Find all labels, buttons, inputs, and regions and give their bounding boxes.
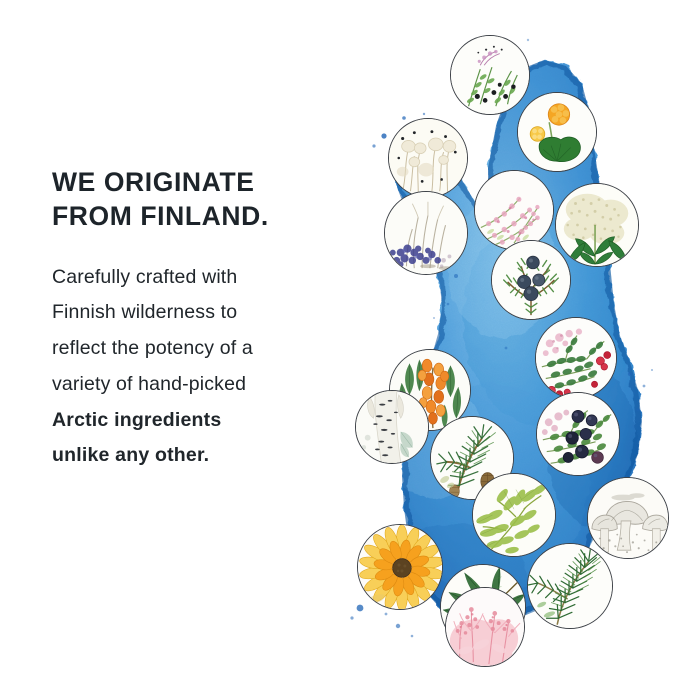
text-block: WE ORIGINATE FROM FINLAND. Carefully cra… bbox=[52, 166, 352, 474]
circle-cloudberry-leaf bbox=[472, 473, 556, 557]
circle-blueberry bbox=[536, 392, 620, 476]
body-line: reflect the potency of a bbox=[52, 331, 352, 367]
poster-root: WE ORIGINATE FROM FINLAND. Carefully cra… bbox=[0, 0, 679, 679]
circle-heather-pink bbox=[474, 170, 554, 250]
circle-spruce-tips bbox=[527, 543, 613, 629]
body-line: Carefully crafted with bbox=[52, 260, 352, 296]
circle-meadowsweet bbox=[555, 183, 639, 267]
circle-marigold bbox=[357, 524, 443, 610]
circle-chanterelle-mushroom bbox=[587, 477, 669, 559]
body-line-emphasis: Arctic ingredients bbox=[52, 403, 352, 439]
marigold-center bbox=[393, 559, 412, 578]
circle-lingonberry bbox=[535, 317, 617, 399]
body-line: variety of hand-picked bbox=[52, 367, 352, 403]
circle-cloudberry bbox=[517, 92, 597, 172]
page-title: WE ORIGINATE FROM FINLAND. bbox=[52, 166, 352, 234]
circle-crowberry-heather bbox=[450, 35, 530, 115]
circle-juniper bbox=[491, 240, 571, 320]
finland-map-illustration bbox=[338, 18, 668, 668]
circle-cotton-grass bbox=[388, 118, 468, 198]
body-line-emphasis: unlike any other. bbox=[52, 438, 352, 474]
circle-willowherb-pink bbox=[445, 587, 525, 667]
circle-bilberry-dwarf bbox=[384, 191, 468, 275]
circle-birch-bark bbox=[355, 390, 429, 464]
body-line: Finnish wilderness to bbox=[52, 295, 352, 331]
body-copy: Carefully crafted with Finnish wildernes… bbox=[52, 260, 352, 474]
